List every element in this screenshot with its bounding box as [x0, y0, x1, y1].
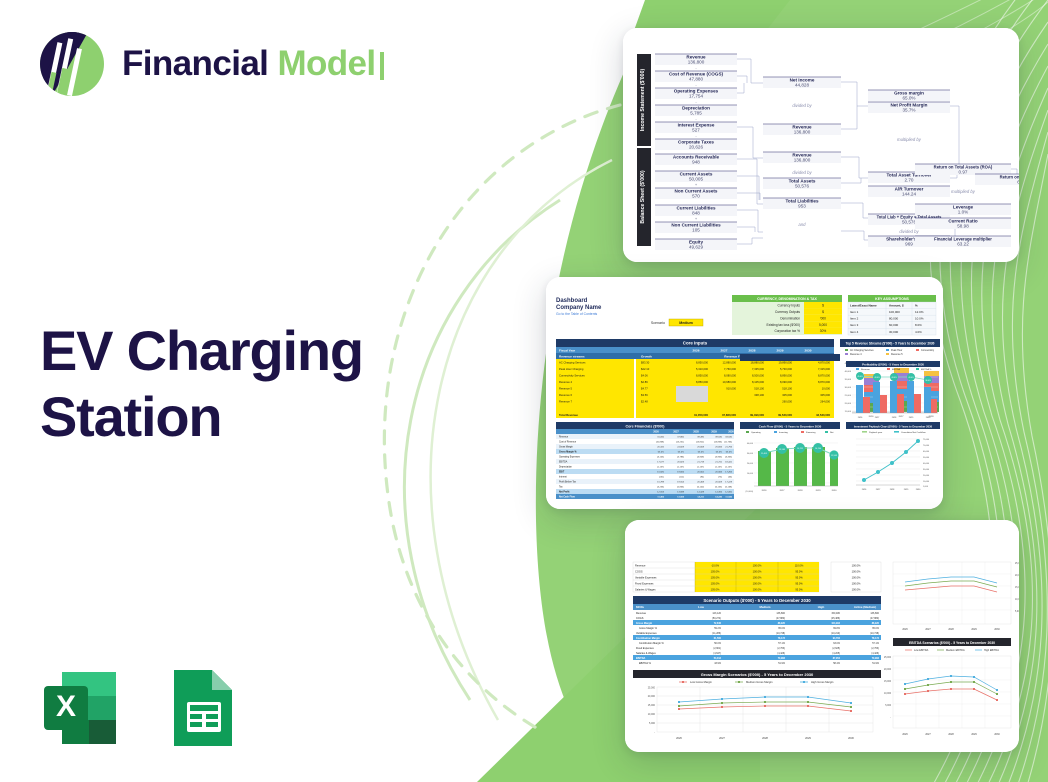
svg-text:100.0%: 100.0%	[753, 569, 762, 573]
svg-text:100.0%: 100.0%	[753, 581, 762, 585]
svg-text:105.0%: 105.0%	[711, 575, 720, 579]
screenshot-card-dupont-model[interactable]: Income Statement ($'000) Balance Sheet (…	[623, 28, 1019, 262]
svg-text:2030: 2030	[994, 733, 1000, 736]
profitability-bars: 45.0% 43.0% 43.0% 43.0% 36.0% 2026202720…	[546, 277, 943, 509]
svg-text:High EBITDA: High EBITDA	[984, 649, 999, 652]
svg-text:100.0%: 100.0%	[753, 563, 762, 567]
svg-text:57.1%: 57.1%	[872, 642, 880, 645]
svg-text:Fixed Expenses: Fixed Expenses	[636, 647, 655, 650]
svg-text:Contribution Margin %: Contribution Margin %	[639, 642, 665, 645]
svg-text:15,000: 15,000	[1015, 587, 1019, 589]
svg-text:25,000: 25,000	[884, 657, 892, 659]
svg-text:5,000: 5,000	[649, 722, 656, 725]
screenshot-card-dashboard[interactable]: Dashboard Company Name Go to the Table o…	[546, 277, 943, 509]
svg-text:(47,880): (47,880)	[776, 617, 785, 620]
svg-text:70,983: 70,983	[778, 657, 786, 660]
svg-text:95.0%: 95.0%	[795, 587, 803, 591]
svg-text:5,000: 5,000	[885, 705, 891, 707]
svg-text:(4,647): (4,647)	[713, 652, 721, 655]
page-title: EV Charging Station	[40, 318, 440, 449]
svg-text:88,920: 88,920	[778, 622, 786, 625]
svg-text:43.0%: 43.0%	[908, 377, 914, 379]
svg-text:88,920: 88,920	[872, 622, 880, 625]
svg-text:58.4%: 58.4%	[833, 662, 841, 665]
svg-text:2029: 2029	[805, 736, 811, 740]
svg-text:(50,274): (50,274)	[712, 617, 721, 620]
svg-text:Gross Margin %: Gross Margin %	[639, 627, 658, 630]
svg-text:Medium: Medium	[760, 605, 771, 609]
svg-text:5,000: 5,000	[1015, 611, 1019, 613]
svg-text:2029: 2029	[971, 733, 977, 736]
svg-text:(2,625): (2,625)	[832, 647, 840, 650]
svg-text:Low Gross Margin: Low Gross Margin	[690, 680, 712, 684]
svg-text:2027: 2027	[925, 733, 931, 736]
svg-text:(10,748): (10,748)	[776, 632, 785, 635]
svg-text:2030: 2030	[926, 417, 931, 419]
svg-text:105.0%: 105.0%	[711, 569, 720, 573]
svg-text:2026: 2026	[902, 733, 908, 736]
svg-text:-10.0%: -10.0%	[711, 563, 720, 567]
svg-text:69.8%: 69.8%	[833, 627, 841, 630]
svg-text:95.0%: 95.0%	[795, 569, 803, 573]
svg-text:2028: 2028	[948, 733, 954, 736]
svg-text:(4,426): (4,426)	[777, 652, 785, 655]
svg-text:EBITDA Scenarios ($'000) - 5 Y: EBITDA Scenarios ($'000) - 5 Years to De…	[909, 641, 995, 645]
svg-text:Salaries & Wages: Salaries & Wages	[636, 652, 657, 655]
svg-text:Variable Expenses: Variable Expenses	[636, 632, 657, 635]
dupont-roe-box: Return on Equity (ROE) 61.22	[623, 28, 1019, 262]
svg-text:2028: 2028	[948, 628, 954, 631]
svg-text:2029: 2029	[971, 628, 977, 631]
svg-text:Active (Medium): Active (Medium)	[854, 605, 876, 609]
svg-text:(11,286): (11,286)	[712, 632, 721, 635]
svg-text:105.0%: 105.0%	[711, 581, 720, 585]
svg-text:(2,763): (2,763)	[871, 647, 879, 650]
svg-text:150,480: 150,480	[831, 612, 840, 615]
svg-text:136,800: 136,800	[870, 612, 879, 615]
svg-text:20,000: 20,000	[884, 669, 892, 671]
hero-left-column: Financial Model EV Charging Station X	[0, 0, 470, 782]
svg-text:2026: 2026	[676, 736, 682, 740]
svg-text:95.0%: 95.0%	[795, 581, 803, 585]
svg-text:65.0%: 65.0%	[778, 627, 786, 630]
brand-logo[interactable]: Financial Model	[36, 28, 376, 100]
svg-text:High: High	[818, 605, 825, 609]
svg-text:61.22: 61.22	[1017, 180, 1019, 185]
svg-text:Low: Low	[698, 605, 705, 609]
svg-text:10,000: 10,000	[648, 713, 656, 716]
svg-text:2027: 2027	[925, 628, 931, 631]
svg-text:57.1%: 57.1%	[778, 642, 786, 645]
svg-text:20,000: 20,000	[1015, 575, 1019, 577]
svg-text:51.9%: 51.9%	[872, 662, 880, 665]
svg-text:2027: 2027	[875, 417, 880, 419]
svg-text:Medium EBITDA: Medium EBITDA	[946, 649, 965, 652]
svg-text:100.0%: 100.0%	[852, 569, 861, 573]
svg-text:72,846: 72,846	[714, 622, 722, 625]
page-title-line-2: Station	[40, 385, 221, 448]
svg-text:100.0%: 100.0%	[852, 587, 861, 591]
svg-text:100.0%: 100.0%	[852, 581, 861, 585]
svg-text:100.0%: 100.0%	[753, 587, 762, 591]
svg-text:15,000: 15,000	[648, 704, 656, 707]
svg-text:2028: 2028	[892, 417, 897, 419]
svg-text:(2,763): (2,763)	[777, 647, 785, 650]
svg-text:(47,880): (47,880)	[870, 617, 879, 620]
svg-text:105.0%: 105.0%	[711, 587, 720, 591]
svg-text:Gross Margin: Gross Margin	[636, 622, 653, 625]
svg-text:(45,486): (45,486)	[831, 617, 840, 620]
svg-text:45.0%: 45.0%	[857, 376, 863, 378]
svg-text:2026: 2026	[902, 628, 908, 631]
svg-text:(10,210): (10,210)	[831, 632, 840, 635]
svg-text:X: X	[56, 690, 76, 723]
svg-text:87,954: 87,954	[833, 657, 841, 660]
svg-text:Variable Expenses: Variable Expenses	[635, 575, 657, 579]
svg-text:100.0%: 100.0%	[852, 563, 861, 567]
scenario-outputs-sheet: Revenue COGS Variable Expenses Fixed Exp…	[625, 520, 1019, 752]
svg-text:2030: 2030	[994, 628, 1000, 631]
excel-icon[interactable]: X	[36, 664, 124, 752]
svg-text:78,172: 78,172	[778, 637, 786, 640]
svg-text:123,120: 123,120	[712, 612, 721, 615]
svg-text:20,000: 20,000	[648, 695, 656, 698]
svg-text:$000s: $000s	[636, 605, 644, 609]
file-format-icons: X	[36, 664, 244, 752]
svg-text:43.0%: 43.0%	[891, 377, 897, 379]
svg-text:25,000: 25,000	[648, 687, 656, 690]
svg-text:(2,901): (2,901)	[713, 647, 721, 650]
svg-text:36.0%: 36.0%	[925, 380, 931, 382]
svg-text:Revenue: Revenue	[635, 563, 646, 567]
svg-text:2030: 2030	[848, 736, 854, 740]
svg-text:Low EBITDA: Low EBITDA	[914, 649, 929, 652]
svg-text:54,012: 54,012	[714, 657, 722, 660]
svg-text:95.0%: 95.0%	[795, 575, 803, 579]
svg-text:(4,205): (4,205)	[832, 652, 840, 655]
svg-text:(4,426): (4,426)	[871, 652, 879, 655]
brand-word-model: Model	[277, 44, 375, 83]
svg-text:110.0%: 110.0%	[795, 563, 804, 567]
svg-text:Scenario Outputs ($'000) - 5 Y: Scenario Outputs ($'000) - 5 Years to De…	[703, 598, 811, 603]
svg-text:70,983: 70,983	[872, 657, 880, 660]
svg-text:Contribution Margin: Contribution Margin	[636, 637, 660, 640]
svg-text:Revenue: Revenue	[636, 612, 647, 615]
svg-text:EBITDA: EBITDA	[636, 657, 646, 660]
brand-logo-text: Financial Model	[122, 44, 376, 84]
svg-text:51.9%: 51.9%	[778, 662, 786, 665]
svg-text:2026: 2026	[858, 417, 863, 419]
svg-text:Salaries & Wages: Salaries & Wages	[635, 587, 656, 591]
svg-text:Return on Equity (ROE): Return on Equity (ROE)	[1000, 175, 1019, 180]
svg-text:Fixed Expenses: Fixed Expenses	[635, 581, 654, 585]
svg-text:2027: 2027	[719, 736, 725, 740]
svg-text:COGS: COGS	[635, 569, 643, 573]
svg-text:25,000: 25,000	[1015, 563, 1019, 565]
svg-text:61,560: 61,560	[714, 637, 722, 640]
brand-word-financial: Financial	[122, 44, 268, 83]
svg-text:Gross Margin Scenarios ($'000): Gross Margin Scenarios ($'000) - 5 Years…	[701, 672, 814, 677]
svg-text:63.0%: 63.0%	[833, 642, 841, 645]
svg-text:2028: 2028	[762, 736, 768, 740]
svg-text:104,994: 104,994	[831, 622, 840, 625]
screenshot-card-scenario-outputs[interactable]: Revenue COGS Variable Expenses Fixed Exp…	[625, 520, 1019, 752]
svg-text:2029: 2029	[909, 417, 914, 419]
svg-text:(10,748): (10,748)	[870, 632, 879, 635]
svg-text:10,000: 10,000	[884, 693, 892, 695]
svg-text:Medium Gross Margin: Medium Gross Margin	[746, 680, 773, 684]
svg-text:43.0%: 43.0%	[874, 377, 880, 379]
svg-text:High Gross Margin: High Gross Margin	[811, 680, 834, 684]
page-title-line-1: EV Charging	[40, 319, 363, 382]
svg-text:COGS: COGS	[636, 617, 644, 620]
svg-text:94,784: 94,784	[833, 637, 841, 640]
svg-text:136,800: 136,800	[776, 612, 785, 615]
svg-text:65.0%: 65.0%	[872, 627, 880, 630]
svg-text:59.2%: 59.2%	[714, 627, 722, 630]
google-sheets-icon[interactable]	[156, 664, 244, 752]
svg-text:EBITDA %: EBITDA %	[639, 662, 652, 665]
svg-text:50.0%: 50.0%	[714, 642, 722, 645]
svg-text:100.0%: 100.0%	[852, 575, 861, 579]
svg-text:78,172: 78,172	[872, 637, 880, 640]
financial-model-logo-icon	[36, 28, 108, 100]
svg-text:10,000: 10,000	[1015, 599, 1019, 601]
svg-text:15,000: 15,000	[884, 681, 892, 683]
svg-text:43.9%: 43.9%	[714, 662, 722, 665]
svg-text:100.0%: 100.0%	[753, 575, 762, 579]
